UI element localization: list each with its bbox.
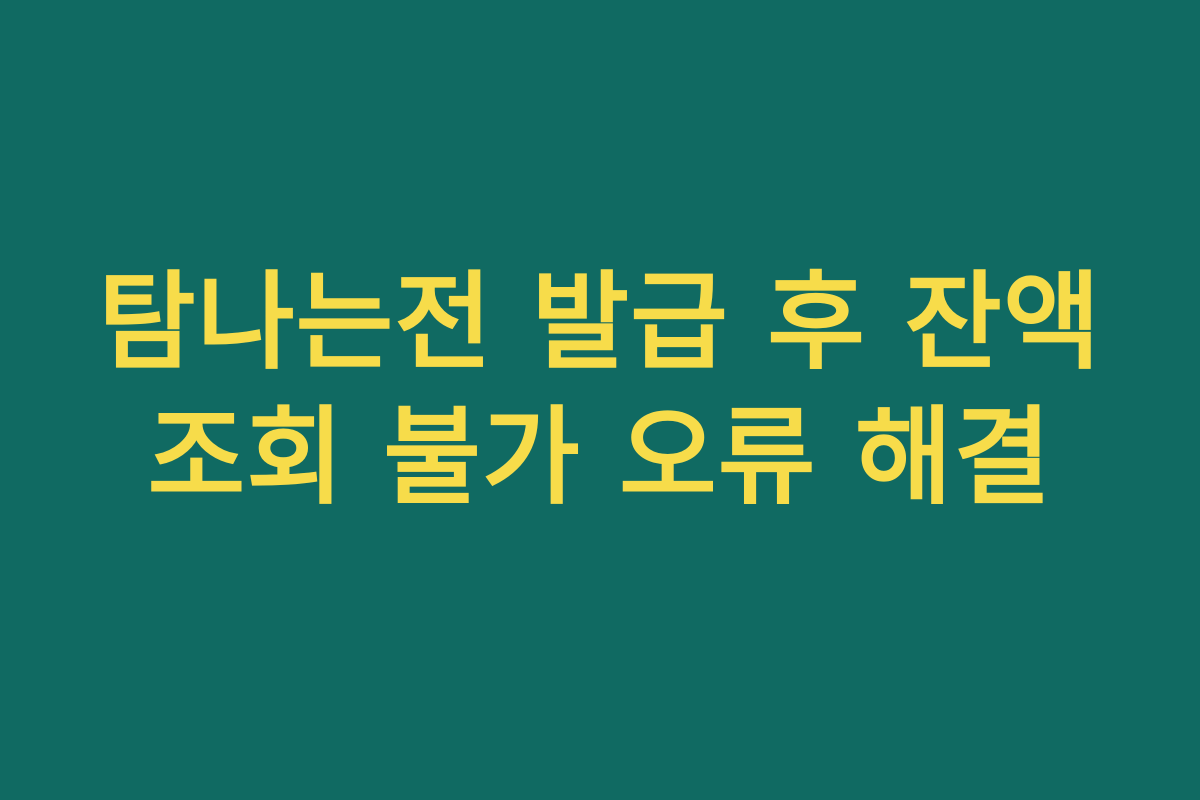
title-line-1: 탐나는전 발급 후 잔액 (40, 256, 1160, 391)
page-title: 탐나는전 발급 후 잔액 조회 불가 오류 해결 (0, 256, 1200, 525)
title-line-2: 조회 불가 오류 해결 (40, 391, 1160, 526)
banner-canvas: 탐나는전 발급 후 잔액 조회 불가 오류 해결 (0, 0, 1200, 800)
